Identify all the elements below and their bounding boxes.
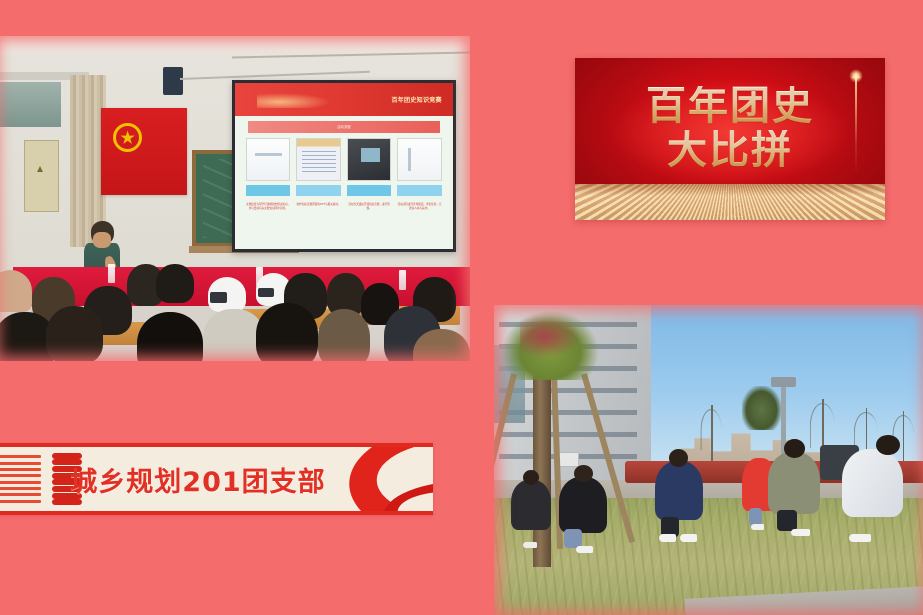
poster-canvas: 百年团史知识竞赛 活动流程 主题班会为同学们讲解团史相关知识，并与会前有关主要知… — [0, 0, 923, 615]
audience-person — [137, 312, 204, 361]
presenter-face — [93, 232, 111, 248]
banner-wood-floor — [575, 184, 885, 220]
slide-header-title: 百年团史知识竞赛 — [391, 95, 452, 104]
slide-thumbnail — [246, 138, 291, 181]
volunteer-person — [559, 477, 607, 533]
sapling-trunk — [533, 355, 551, 567]
ribbon-layer — [346, 479, 433, 515]
audience-person-cap — [208, 277, 246, 313]
slide-column: 活动过程进行宣传报道，评出优秀，让更多人参与其中。 — [397, 138, 442, 241]
wall-speaker-icon — [163, 67, 183, 95]
slide-caption: 活动过程进行宣传报道，评出优秀，让更多人参与其中。 — [397, 201, 442, 241]
hero-banner[interactable]: 百年团史 大比拼 — [575, 58, 885, 220]
volunteer-torso — [511, 480, 550, 530]
volunteer-person — [768, 452, 820, 514]
slide-bar — [397, 185, 442, 196]
banner-title-line1: 百年团史 — [646, 86, 814, 126]
branch-title-strip[interactable]: 城乡规划201团支部 — [0, 443, 433, 515]
slide-column: 主题班会为同学们讲解团史相关知识，并与会前有关主要知识同步宣讲。 — [246, 138, 291, 241]
dash-column-thin — [0, 447, 44, 511]
slide-caption: 制作知识竞赛所需的PPT与相关素材。 — [296, 201, 341, 241]
volunteer-shoe — [680, 534, 697, 541]
flag-emblem-ring — [113, 123, 142, 152]
volunteer-head — [574, 465, 593, 482]
projection-screen: 百年团史知识竞赛 活动流程 主题班会为同学们讲解团史相关知识，并与会前有关主要知… — [232, 80, 456, 252]
flag-star-icon — [120, 130, 135, 145]
volunteer-torso — [768, 452, 820, 514]
slide-columns: 主题班会为同学们讲解团史相关知识，并与会前有关主要知识同步宣讲。 制作知识竞赛所… — [246, 138, 442, 241]
volunteer-torso — [655, 461, 703, 520]
volunteer-shoe — [523, 542, 537, 548]
slide-section-label-text: 活动流程 — [337, 124, 351, 129]
slide-section-label: 活动流程 — [248, 121, 440, 133]
volunteer-shoe — [791, 529, 810, 536]
water-bottle — [108, 264, 115, 284]
slide-caption: 活动当天组织开展知识竞赛，进行答题。 — [347, 201, 392, 241]
volunteer-head — [523, 470, 539, 485]
classroom-window — [0, 82, 61, 128]
volunteer-torso — [559, 477, 607, 533]
slide-bar — [296, 185, 341, 196]
banner-title-line2: 大比拼 — [667, 130, 793, 170]
branch-title-label: 城乡规划201团支部 — [70, 447, 358, 511]
volunteer-shoe — [751, 524, 764, 530]
audience-person — [256, 303, 318, 362]
slide-thumbnail — [296, 138, 341, 181]
audience-person — [46, 306, 103, 361]
slide-bar — [347, 185, 392, 196]
slide-bar — [246, 185, 291, 196]
volunteer-torso — [842, 449, 903, 518]
classroom-scene: 百年团史知识竞赛 活动流程 主题班会为同学们讲解团史相关知识，并与会前有关主要知… — [0, 36, 470, 361]
banner-text: 百年团史 大比拼 — [575, 71, 885, 184]
volunteer-shoe — [576, 546, 593, 553]
electrical-panel-icon — [24, 140, 60, 212]
sapling-foliage — [503, 311, 599, 380]
volunteer-person — [655, 461, 703, 520]
volunteer-head — [784, 439, 805, 458]
pine-tree — [742, 386, 781, 430]
volunteer-shoe — [849, 534, 871, 542]
audience-person — [156, 264, 194, 303]
slide-thumbnail — [347, 138, 392, 181]
audience-person — [318, 309, 370, 361]
slide-thumbnail — [397, 138, 442, 181]
slide-caption: 主题班会为同学们讲解团史相关知识，并与会前有关主要知识同步宣讲。 — [246, 201, 291, 241]
volunteer-head — [876, 435, 900, 456]
slide-header: 百年团史知识竞赛 — [235, 83, 453, 116]
slide-column: 活动当天组织开展知识竞赛，进行答题。 — [347, 138, 392, 241]
slide-column: 制作知识竞赛所需的PPT与相关素材。 — [296, 138, 341, 241]
water-bottle — [399, 270, 406, 290]
volunteer-shoe — [659, 534, 676, 541]
sparkle-icon — [855, 74, 857, 174]
volunteer-person — [842, 449, 903, 518]
outdoor-scene — [494, 305, 923, 615]
slide-sparkle-decoration — [257, 93, 331, 108]
outdoor-volunteer-photo[interactable] — [494, 305, 923, 615]
classroom-presentation-photo[interactable]: 百年团史知识竞赛 活动流程 主题班会为同学们讲解团史相关知识，并与会前有关主要知… — [0, 36, 470, 361]
volunteer-person — [511, 480, 550, 530]
youth-league-flag — [101, 108, 187, 196]
